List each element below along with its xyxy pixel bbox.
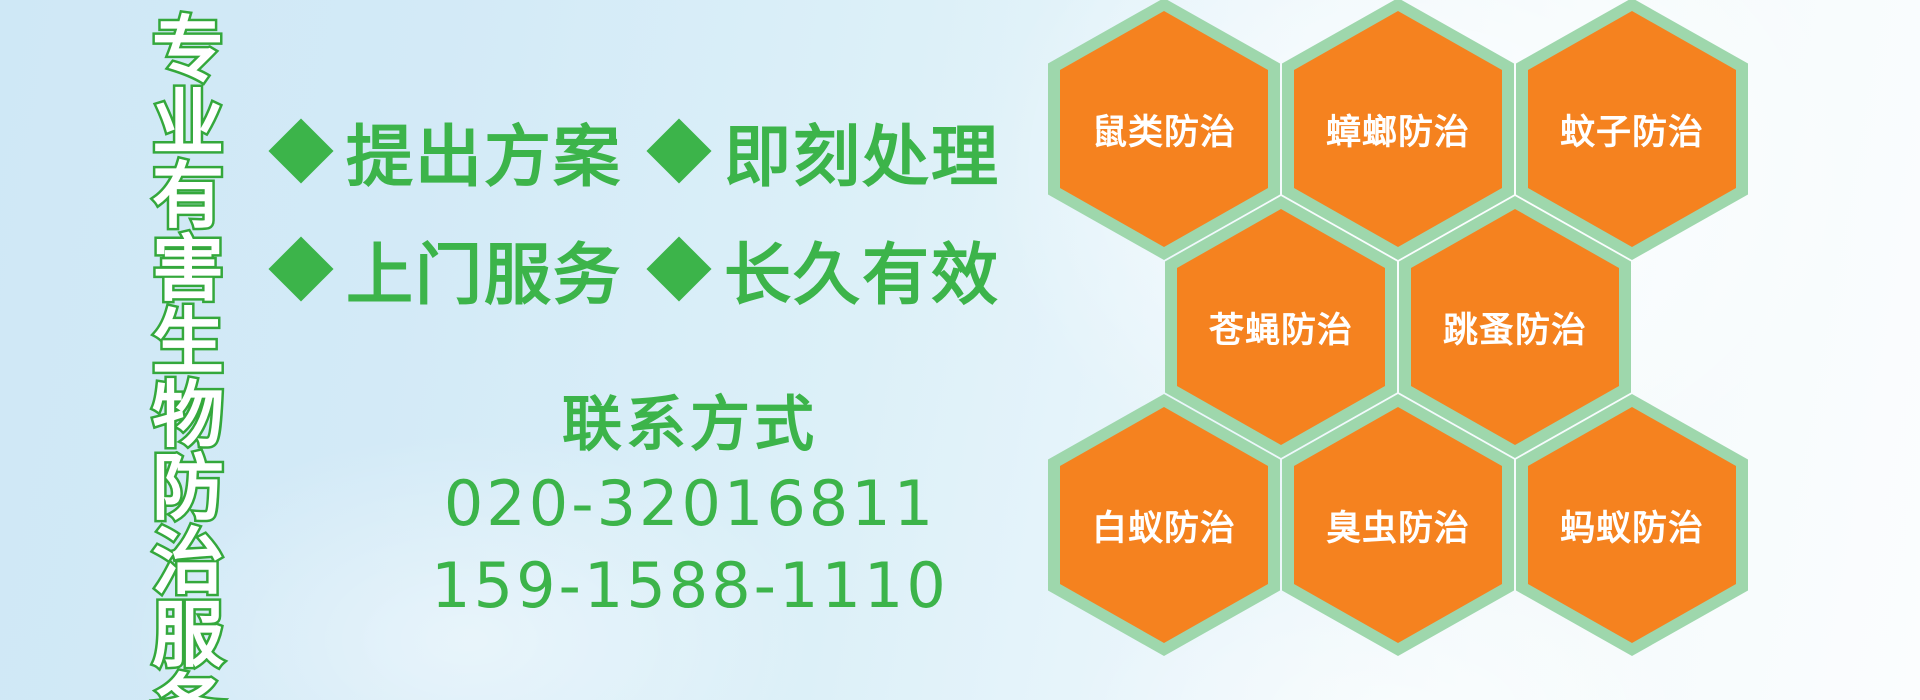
feature-list: 提出方案 即刻处理 上门服务 长久有效 <box>278 92 1068 328</box>
vertical-headline-char: 服 <box>152 599 224 672</box>
contact-phone-landline[interactable]: 020-32016811 <box>380 463 1000 545</box>
service-hex-inner: 苍蝇防治 <box>1177 209 1385 445</box>
service-hex-label: 苍蝇防治 <box>1209 302 1353 353</box>
vertical-headline-char: 生 <box>152 306 224 379</box>
feature-row: 上门服务 长久有效 <box>278 210 1068 328</box>
feature-row: 提出方案 即刻处理 <box>278 92 1068 210</box>
service-hex-label: 跳蚤防治 <box>1443 302 1587 353</box>
vertical-headline-char: 害 <box>152 233 224 306</box>
feature-label: 上门服务 <box>346 221 622 318</box>
feature-item-propose-plan: 提出方案 <box>278 103 622 200</box>
pest-control-banner: 专 业 有 害 生 物 防 治 服 务 提出方案 即刻处理 上门服务 <box>0 0 1920 700</box>
service-hex-inner: 蟑螂防治 <box>1294 11 1502 247</box>
contact-title: 联系方式 <box>380 388 1000 463</box>
vertical-headline-char: 务 <box>152 672 224 700</box>
service-hex-label: 白蚁防治 <box>1092 500 1236 551</box>
service-hex-inner: 蚊子防治 <box>1528 11 1736 247</box>
service-hex-label: 蚊子防治 <box>1560 104 1704 155</box>
diamond-bullet-icon <box>268 118 333 183</box>
feature-label: 提出方案 <box>346 103 622 200</box>
service-hex-label: 臭虫防治 <box>1326 500 1470 551</box>
service-hex-inner: 臭虫防治 <box>1294 407 1502 643</box>
vertical-headline-char: 治 <box>152 526 224 599</box>
service-hex-label: 蚂蚁防治 <box>1560 500 1704 551</box>
feature-item-immediate-handling: 即刻处理 <box>656 103 1000 200</box>
service-hex-label: 蟑螂防治 <box>1326 104 1470 155</box>
service-hex-inner: 跳蚤防治 <box>1411 209 1619 445</box>
vertical-headline: 专 业 有 害 生 物 防 治 服 务 <box>128 14 248 694</box>
feature-item-onsite-service: 上门服务 <box>278 221 622 318</box>
feature-label: 即刻处理 <box>724 103 1000 200</box>
contact-block: 联系方式 020-32016811 159-1588-1110 <box>380 388 1000 627</box>
diamond-bullet-icon <box>646 236 711 301</box>
diamond-bullet-icon <box>268 236 333 301</box>
feature-label: 长久有效 <box>724 221 1000 318</box>
vertical-headline-char: 有 <box>152 160 224 233</box>
contact-phone-mobile[interactable]: 159-1588-1110 <box>380 545 1000 627</box>
vertical-headline-char: 专 <box>152 14 224 87</box>
vertical-headline-char: 物 <box>152 379 224 452</box>
service-hex-inner: 鼠类防治 <box>1060 11 1268 247</box>
service-hex-label: 鼠类防治 <box>1092 104 1236 155</box>
service-honeycomb: 鼠类防治 蟑螂防治 蚊子防治 苍蝇防治 跳蚤防治 白蚁防治 <box>1040 0 1920 700</box>
feature-item-long-lasting: 长久有效 <box>656 221 1000 318</box>
diamond-bullet-icon <box>646 118 711 183</box>
service-hex-inner: 白蚁防治 <box>1060 407 1268 643</box>
vertical-headline-char: 防 <box>152 452 224 525</box>
service-hex-inner: 蚂蚁防治 <box>1528 407 1736 643</box>
vertical-headline-char: 业 <box>152 87 224 160</box>
